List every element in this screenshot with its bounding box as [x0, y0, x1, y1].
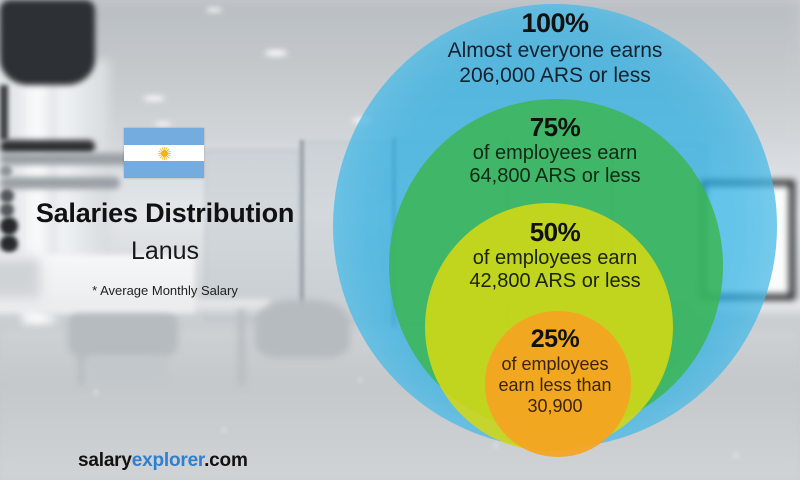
page-title: Salaries Distribution [0, 198, 330, 229]
infographic-canvas: 100% Almost everyone earns 206,000 ARS o… [0, 0, 800, 480]
argentina-flag-icon [124, 128, 204, 178]
percentile-circle-25 [485, 311, 631, 457]
site-brand[interactable]: salaryexplorer.com [78, 450, 248, 472]
salary-note: * Average Monthly Salary [0, 283, 330, 298]
location-title: Lanus [0, 237, 330, 266]
brand-part-explorer: explorer [132, 450, 204, 471]
brand-part-tld: .com [204, 450, 248, 471]
sun-of-may-icon [157, 146, 172, 161]
brand-part-salary: salary [78, 450, 132, 471]
